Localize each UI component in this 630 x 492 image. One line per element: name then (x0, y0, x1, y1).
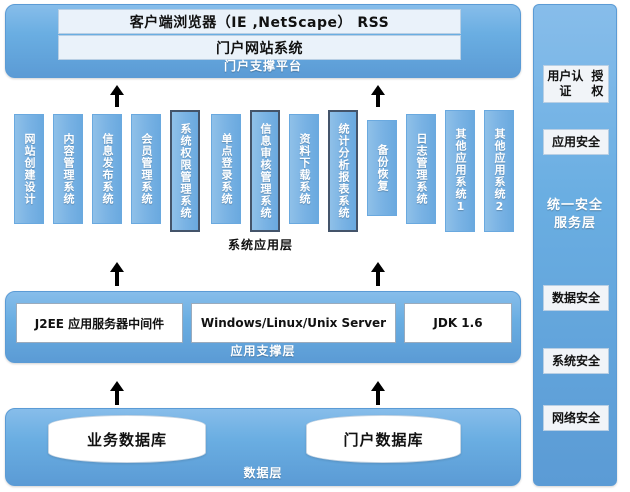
jdk-version-box: JDK 1.6 (404, 303, 512, 343)
unified-security-service-title: 统一安全 服务层 (534, 197, 616, 233)
system-module-1-label: 网站创建设计 (23, 133, 35, 205)
unified-security-service-title-line2: 服务层 (554, 216, 596, 231)
portal-database-cylinder: 门户数据库 (306, 415, 461, 463)
system-module-7-label: 信息审核管理系统 (259, 123, 271, 219)
arrow-up-right-to-portal (371, 85, 385, 107)
system-module-8-label: 资料下载系统 (298, 133, 310, 205)
system-module-12: 其他应用系统1 (445, 110, 475, 232)
architecture-diagram: 客户端浏览器（IE ,NetScape） RSS 门户网站系统 门户支撑平台 网… (0, 0, 630, 492)
system-module-9: 统计分析报表系统 (328, 110, 358, 232)
arrow-up-right-to-appsupport (371, 381, 385, 405)
system-module-5: 系统权限管理系统 (170, 110, 200, 232)
system-module-1: 网站创建设计 (14, 114, 44, 224)
unified-security-service-panel: 用户认证 授权 应用安全 统一安全 服务层 数据安全 系统安全 网络安全 (533, 4, 617, 486)
security-item-user-authentication-line2: 授权 (587, 69, 608, 99)
application-support-layer-label: 应用支撑层 (6, 342, 520, 359)
security-item-data-security: 数据安全 (543, 285, 609, 311)
system-module-11-label: 日志管理系统 (415, 133, 427, 205)
system-module-5-label: 系统权限管理系统 (179, 123, 191, 219)
system-module-2: 内容管理系统 (53, 114, 83, 224)
j2ee-middleware-box: J2EE 应用服务器中间件 (16, 303, 183, 343)
portal-panel-label: 门户支撑平台 (6, 57, 520, 74)
data-layer-label: 数据层 (6, 464, 520, 481)
security-item-application-security: 应用安全 (543, 129, 609, 155)
data-layer-panel: 业务数据库 门户数据库 数据层 (5, 408, 521, 486)
system-module-12-label: 其他应用系统1 (454, 128, 466, 214)
system-module-13: 其他应用系统2 (484, 110, 514, 232)
unified-security-service-title-line1: 统一安全 (547, 198, 603, 213)
security-item-system-security: 系统安全 (543, 348, 609, 374)
system-module-7: 信息审核管理系统 (250, 110, 280, 232)
security-item-user-authentication: 用户认证 授权 (543, 65, 609, 103)
arrow-up-left-to-portal (110, 85, 124, 107)
system-module-13-label: 其他应用系统2 (493, 128, 505, 214)
business-database-cylinder: 业务数据库 (48, 415, 206, 463)
server-os-box: Windows/Linux/Unix Server (191, 303, 396, 343)
portal-support-platform-panel: 客户端浏览器（IE ,NetScape） RSS 门户网站系统 门户支撑平台 (5, 4, 521, 78)
system-module-11: 日志管理系统 (406, 114, 436, 224)
security-item-network-security: 网络安全 (543, 405, 609, 431)
client-browser-box: 客户端浏览器（IE ,NetScape） RSS (58, 9, 461, 34)
security-item-user-authentication-line1: 用户认证 (544, 69, 587, 99)
system-application-layer-caption: 系统应用层 (228, 236, 293, 253)
system-module-9-label: 统计分析报表系统 (337, 123, 349, 219)
system-module-6-label: 单点登录系统 (220, 133, 232, 205)
system-module-6: 单点登录系统 (211, 114, 241, 224)
arrow-up-left-to-appsupport (110, 381, 124, 405)
system-module-3-label: 信息发布系统 (101, 133, 113, 205)
system-module-10-label: 备份恢复 (376, 144, 388, 192)
system-module-4-label: 会员管理系统 (140, 133, 152, 205)
arrow-up-right-to-modules (371, 262, 385, 286)
system-module-3: 信息发布系统 (92, 114, 122, 224)
application-support-layer-panel: J2EE 应用服务器中间件 Windows/Linux/Unix Server … (5, 291, 521, 363)
system-module-4: 会员管理系统 (131, 114, 161, 224)
system-module-8: 资料下载系统 (289, 114, 319, 224)
system-module-2-label: 内容管理系统 (62, 133, 74, 205)
arrow-up-left-to-modules (110, 262, 124, 286)
system-module-10: 备份恢复 (367, 120, 397, 216)
